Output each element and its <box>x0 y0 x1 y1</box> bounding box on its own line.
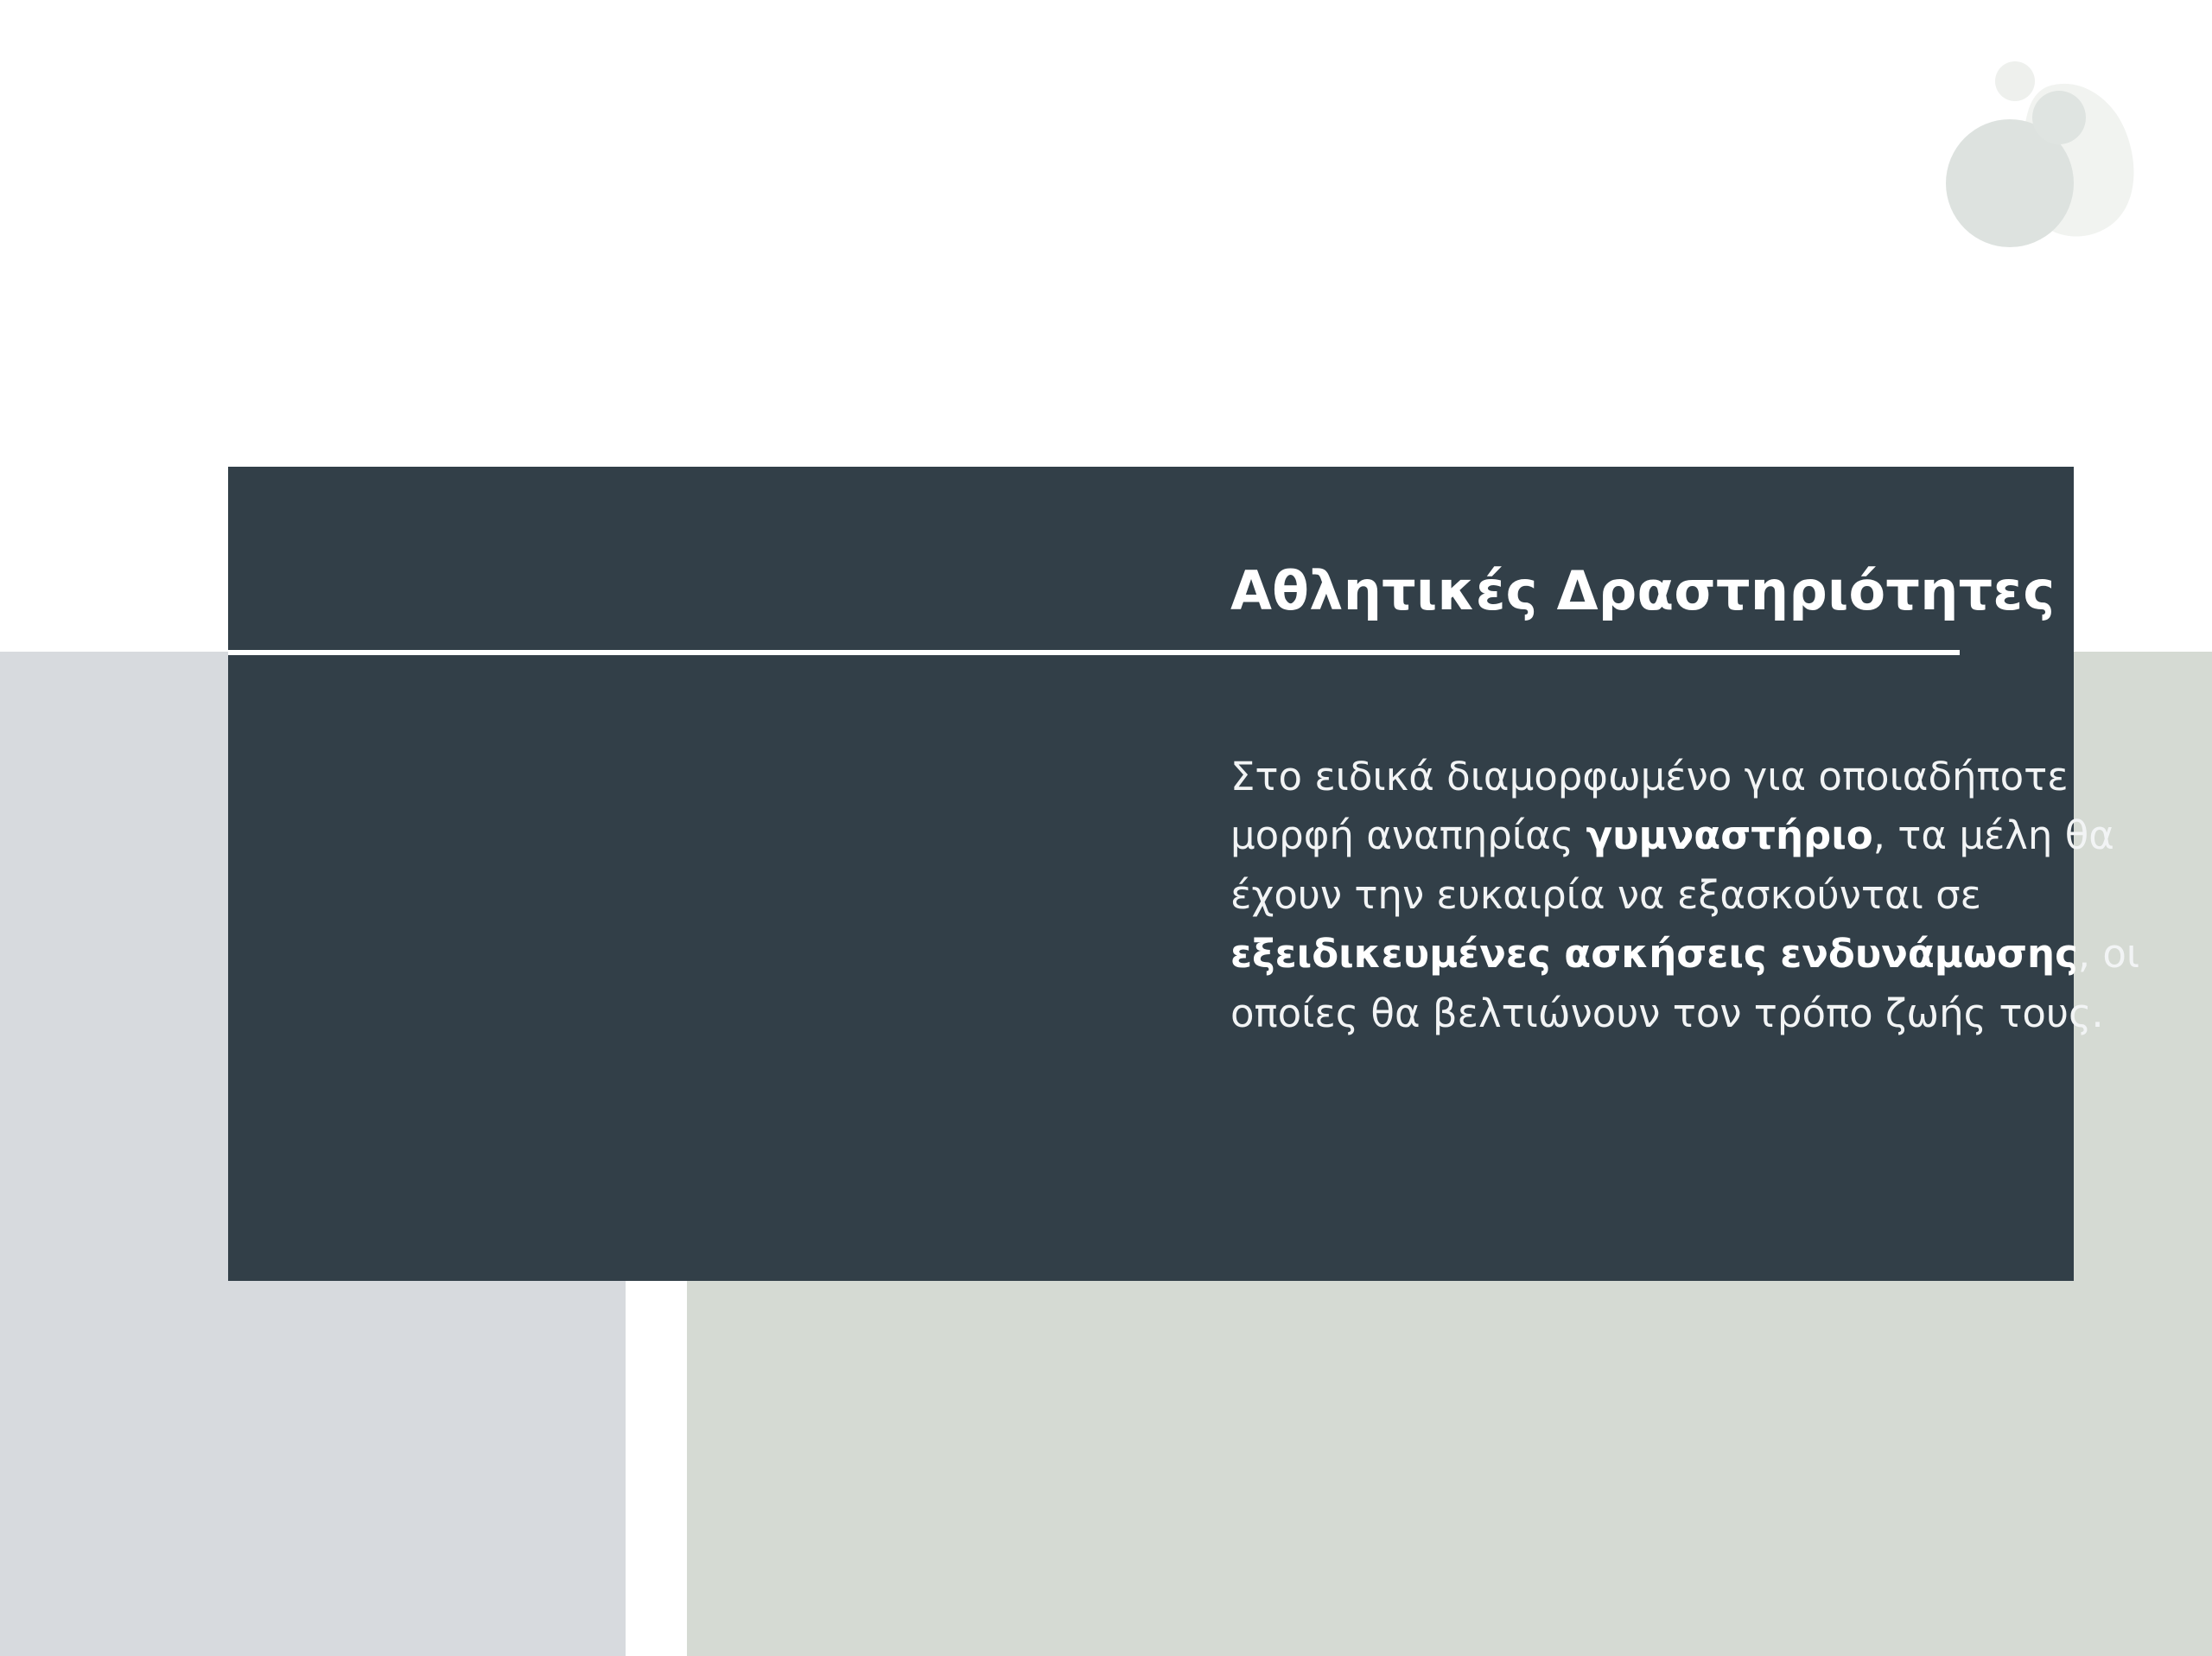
small-circle-blob <box>1995 61 2035 101</box>
slide-canvas: Αθλητικές Δραστηριότητες Στο ειδικά διαμ… <box>0 0 2212 1656</box>
background-block-gutter <box>626 1281 687 1656</box>
blob-cluster <box>1918 52 2160 251</box>
title-divider <box>228 650 1960 655</box>
content-panel: Αθλητικές Δραστηριότητες Στο ειδικά διαμ… <box>228 467 2074 1281</box>
body-emphasis: εξειδικευμένες ασκήσεις ενδυνάμωσης <box>1230 931 2078 977</box>
page-title: Αθλητικές Δραστηριότητες <box>1230 562 2060 621</box>
medium-circle-blob <box>2032 91 2086 144</box>
body-paragraph: Στο ειδικά διαμορφωμένο για οποιαδήποτε … <box>1230 748 2198 1043</box>
body-emphasis: γυμναστήριο <box>1586 812 1872 858</box>
